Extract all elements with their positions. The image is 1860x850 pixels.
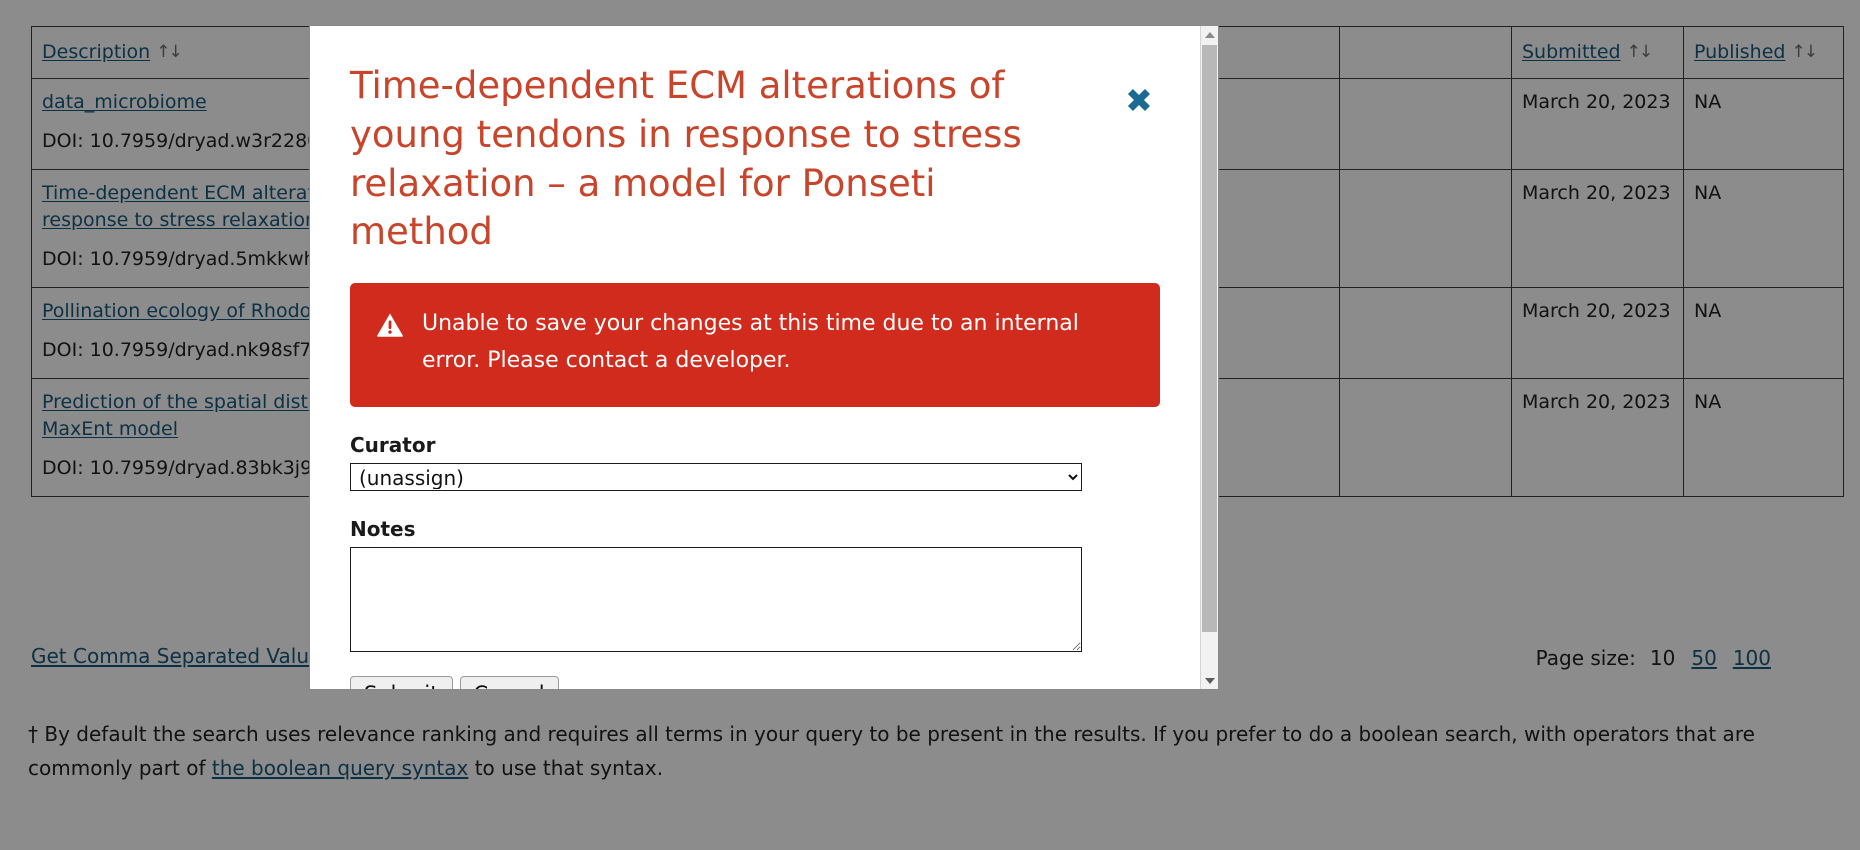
error-alert-message: Unable to save your changes at this time…: [422, 306, 1134, 380]
scroll-down-arrow-icon[interactable]: [1201, 672, 1218, 689]
curator-select[interactable]: (unassign): [350, 463, 1082, 491]
error-alert: Unable to save your changes at this time…: [350, 283, 1160, 407]
notes-label: Notes: [350, 517, 1160, 541]
curator-label: Curator: [350, 433, 1160, 457]
notes-textarea[interactable]: [350, 547, 1082, 652]
submit-button[interactable]: Submit: [350, 676, 453, 689]
curation-modal-dialog: Time-dependent ECM alterations of young …: [309, 25, 1219, 690]
close-icon[interactable]: ✖: [1122, 84, 1156, 118]
modal-scrollbar[interactable]: [1200, 26, 1218, 689]
scroll-up-arrow-icon[interactable]: [1201, 26, 1218, 43]
modal-title: Time-dependent ECM alterations of young …: [350, 62, 1160, 257]
scrollbar-thumb[interactable]: [1202, 45, 1217, 632]
modal-body: Time-dependent ECM alterations of young …: [310, 26, 1200, 689]
cancel-button[interactable]: Cancel: [460, 676, 559, 689]
warning-triangle-icon: [376, 312, 404, 342]
modal-actions: Submit Cancel: [350, 676, 1160, 689]
